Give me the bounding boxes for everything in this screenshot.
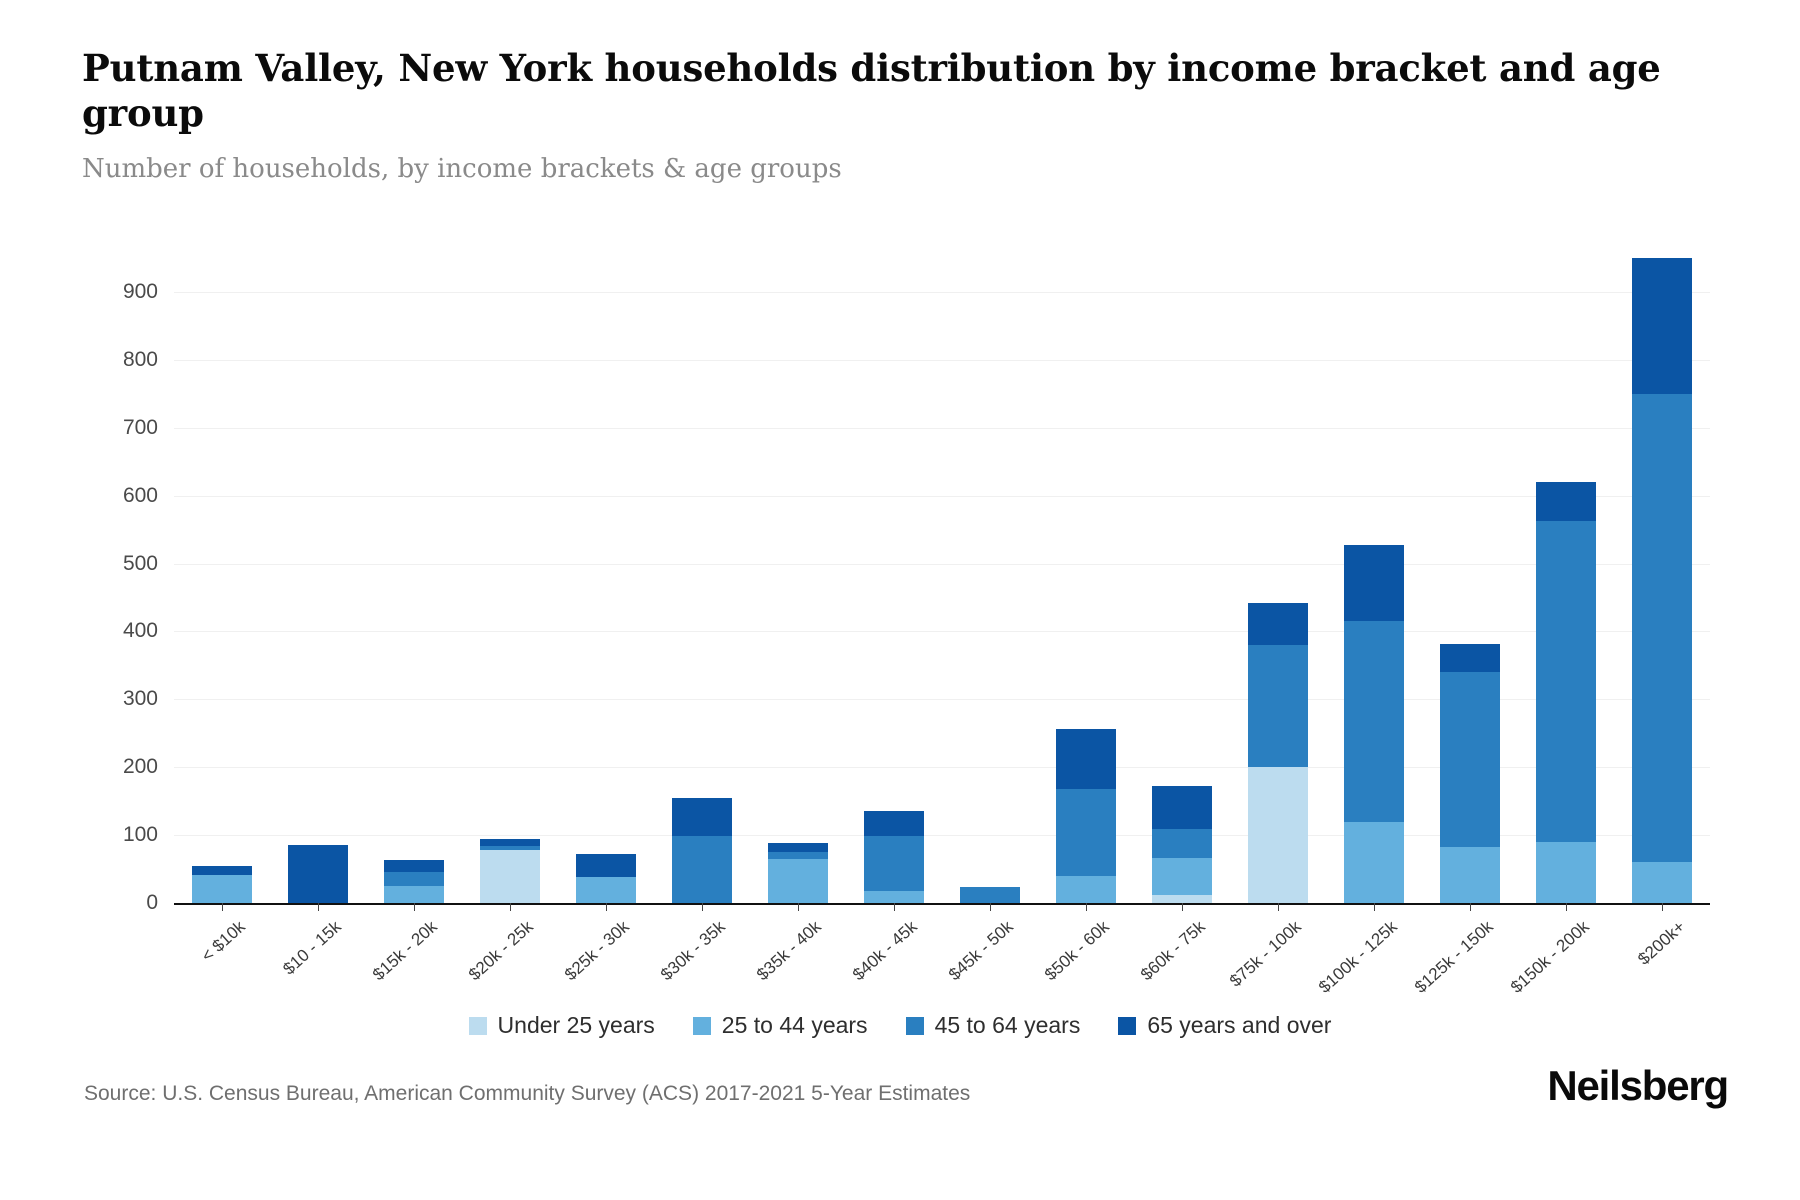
bar-segment[interactable]	[1056, 729, 1116, 789]
x-axis-tick-label: < $10k	[198, 917, 250, 966]
x-axis-tick-label: $40k - 45k	[849, 917, 921, 985]
source-note: Source: U.S. Census Bureau, American Com…	[84, 1082, 970, 1106]
bar-stack[interactable]	[1632, 258, 1692, 903]
bar-segment[interactable]	[1248, 645, 1308, 767]
bar-segment[interactable]	[1632, 394, 1692, 862]
legend-swatch	[1118, 1017, 1136, 1035]
page-title: Putnam Valley, New York households distr…	[82, 46, 1702, 136]
bar-segment[interactable]	[1632, 862, 1692, 903]
bar-segment[interactable]	[288, 845, 348, 903]
y-axis-tick-label: 800	[38, 348, 158, 372]
bar-segment[interactable]	[768, 852, 828, 859]
x-axis-tick-label: $25k - 30k	[561, 917, 633, 985]
gridline	[174, 428, 1710, 429]
x-axis-tick	[990, 903, 991, 911]
bar-segment[interactable]	[672, 798, 732, 836]
bar-segment[interactable]	[1152, 786, 1212, 829]
x-axis-tick	[1374, 903, 1375, 911]
legend-swatch	[693, 1017, 711, 1035]
bar-stack[interactable]	[1536, 482, 1596, 903]
bar-stack[interactable]	[672, 798, 732, 903]
brand-logo: Neilsberg	[1547, 1062, 1728, 1110]
plot-area	[174, 258, 1710, 903]
bar-stack[interactable]	[864, 811, 924, 903]
x-axis-tick-label: $75k - 100k	[1226, 917, 1305, 991]
x-axis-line	[174, 903, 1710, 905]
bar-segment[interactable]	[192, 866, 252, 875]
bar-segment[interactable]	[576, 877, 636, 903]
legend-swatch	[469, 1017, 487, 1035]
bar-stack[interactable]	[1440, 644, 1500, 903]
x-axis-tick	[414, 903, 415, 911]
x-axis-tick	[318, 903, 319, 911]
y-axis-tick-label: 0	[38, 891, 158, 915]
y-axis-tick-label: 300	[38, 687, 158, 711]
bar-segment[interactable]	[1344, 621, 1404, 821]
bar-segment[interactable]	[1152, 829, 1212, 858]
legend-item[interactable]: 25 to 44 years	[693, 1012, 868, 1039]
bar-segment[interactable]	[1248, 767, 1308, 903]
bar-segment[interactable]	[864, 811, 924, 837]
x-axis-tick-label: $200k+	[1634, 917, 1689, 970]
bar-segment[interactable]	[480, 839, 540, 846]
y-axis-tick-label: 400	[38, 619, 158, 643]
chart-plot-wrapper: 0100200300400500600700800900< $10k$10 - …	[0, 258, 1800, 918]
x-axis-tick-label: $125k - 150k	[1411, 917, 1497, 998]
bar-segment[interactable]	[1632, 258, 1692, 394]
bar-segment[interactable]	[384, 872, 444, 886]
x-axis-tick	[1470, 903, 1471, 911]
x-axis-tick	[702, 903, 703, 911]
bar-segment[interactable]	[1056, 789, 1116, 876]
bar-segment[interactable]	[768, 843, 828, 853]
bar-segment[interactable]	[960, 887, 1020, 903]
x-axis-tick	[222, 903, 223, 911]
bar-stack[interactable]	[960, 887, 1020, 903]
legend-item[interactable]: 45 to 64 years	[906, 1012, 1081, 1039]
legend-item[interactable]: Under 25 years	[469, 1012, 655, 1039]
legend-label: 65 years and over	[1147, 1012, 1331, 1039]
x-axis-tick-label: $100k - 125k	[1315, 917, 1401, 998]
bar-segment[interactable]	[768, 859, 828, 903]
x-axis-tick	[798, 903, 799, 911]
bar-segment[interactable]	[1536, 482, 1596, 521]
bar-segment[interactable]	[384, 860, 444, 872]
bar-segment[interactable]	[1440, 644, 1500, 672]
bar-segment[interactable]	[192, 875, 252, 903]
legend-label: 45 to 64 years	[935, 1012, 1081, 1039]
bar-stack[interactable]	[192, 866, 252, 903]
chart-header: Putnam Valley, New York households distr…	[82, 46, 1722, 184]
gridline	[174, 496, 1710, 497]
y-axis-tick-label: 700	[38, 416, 158, 440]
chart-legend: Under 25 years25 to 44 years45 to 64 yea…	[0, 1012, 1800, 1039]
bar-segment[interactable]	[576, 854, 636, 877]
bar-segment[interactable]	[1344, 822, 1404, 903]
bar-segment[interactable]	[1056, 876, 1116, 903]
x-axis-tick-label: $150k - 200k	[1507, 917, 1593, 998]
bar-segment[interactable]	[1152, 895, 1212, 903]
bar-stack[interactable]	[576, 854, 636, 903]
x-axis-tick	[1566, 903, 1567, 911]
y-axis-tick-label: 900	[38, 280, 158, 304]
bar-segment[interactable]	[864, 891, 924, 903]
bar-segment[interactable]	[1536, 842, 1596, 903]
bar-stack[interactable]	[1344, 545, 1404, 903]
x-axis-tick	[1182, 903, 1183, 911]
x-axis-tick	[1278, 903, 1279, 911]
x-axis-tick	[510, 903, 511, 911]
x-axis-tick-label: $15k - 20k	[369, 917, 441, 985]
chart-subtitle: Number of households, by income brackets…	[82, 154, 1722, 184]
bar-segment[interactable]	[480, 850, 540, 903]
bar-segment[interactable]	[672, 836, 732, 903]
bar-stack[interactable]	[1152, 786, 1212, 903]
x-axis-tick-label: $45k - 50k	[945, 917, 1017, 985]
y-axis-tick-label: 200	[38, 755, 158, 779]
x-axis-tick-label: $35k - 40k	[753, 917, 825, 985]
y-axis-tick-label: 500	[38, 552, 158, 576]
y-axis-tick-label: 600	[38, 484, 158, 508]
bar-segment[interactable]	[384, 886, 444, 903]
y-axis-tick-label: 100	[38, 823, 158, 847]
x-axis-tick-label: $60k - 75k	[1137, 917, 1209, 985]
legend-label: 25 to 44 years	[722, 1012, 868, 1039]
bar-stack[interactable]	[288, 845, 348, 903]
legend-label: Under 25 years	[498, 1012, 655, 1039]
gridline	[174, 564, 1710, 565]
bar-segment[interactable]	[1440, 847, 1500, 903]
bar-segment[interactable]	[1248, 603, 1308, 645]
x-axis-tick-label: $10 - 15k	[279, 917, 345, 979]
bar-stack[interactable]	[1056, 729, 1116, 903]
x-axis-tick	[1086, 903, 1087, 911]
x-axis-tick-label: $50k - 60k	[1041, 917, 1113, 985]
gridline	[174, 360, 1710, 361]
bar-stack[interactable]	[384, 860, 444, 903]
bar-segment[interactable]	[1152, 858, 1212, 895]
x-axis-tick-label: $20k - 25k	[465, 917, 537, 985]
bar-stack[interactable]	[1248, 603, 1308, 903]
bar-segment[interactable]	[1536, 521, 1596, 841]
bar-stack[interactable]	[768, 843, 828, 903]
bar-segment[interactable]	[1440, 672, 1500, 847]
legend-swatch	[906, 1017, 924, 1035]
gridline	[174, 292, 1710, 293]
bar-segment[interactable]	[864, 836, 924, 890]
bar-segment[interactable]	[1344, 545, 1404, 622]
x-axis-tick	[894, 903, 895, 911]
x-axis-tick	[1662, 903, 1663, 911]
bar-stack[interactable]	[480, 839, 540, 903]
legend-item[interactable]: 65 years and over	[1118, 1012, 1331, 1039]
gridline	[174, 631, 1710, 632]
x-axis-tick	[606, 903, 607, 911]
x-axis-tick-label: $30k - 35k	[657, 917, 729, 985]
chart-page: Putnam Valley, New York households distr…	[0, 0, 1800, 1200]
